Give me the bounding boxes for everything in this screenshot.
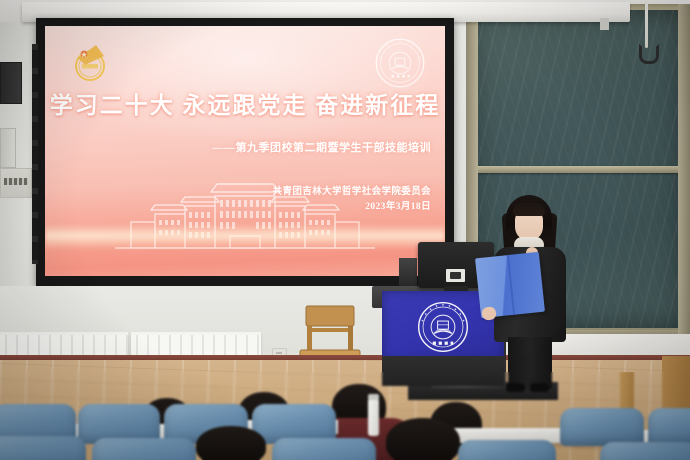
lecture-seat[interactable] (600, 442, 690, 460)
presenter-shoe (530, 383, 549, 392)
lecture-seat[interactable] (648, 408, 690, 446)
slide-title: 学习二十大 永远跟党走 奋进新征程 (45, 86, 445, 120)
presenter-legs (508, 337, 552, 389)
presenter (484, 195, 576, 395)
lecture-seat[interactable] (458, 440, 556, 460)
slide-subtitle: ——第九季团校第二期暨学生干部技能培训 (213, 139, 432, 155)
lecture-seat[interactable] (92, 438, 196, 460)
slide-horizon-glow (45, 224, 445, 250)
jilin-university-seal-icon (373, 36, 427, 90)
jilin-university-seal-icon (416, 300, 470, 354)
hanging-cord (645, 0, 648, 48)
chalkboard-ledge (472, 166, 684, 173)
lecture-seat[interactable] (0, 436, 86, 460)
folder-crease (507, 255, 515, 315)
wall-speaker (0, 62, 22, 104)
lecture-seat[interactable] (272, 438, 376, 460)
projection-screen: 学习二十大 永远跟党走 奋进新征程 ——第九季团校第二期暨学生干部技能培训 共青… (36, 18, 454, 286)
audience-head (196, 426, 266, 460)
water-bottle-cap (368, 394, 379, 400)
presenter-shoe (506, 383, 525, 392)
communist-youth-league-emblem-icon (65, 36, 115, 86)
presentation-slide: 学习二十大 永远跟党走 奋进新征程 ——第九季团校第二期暨学生干部技能培训 共青… (45, 26, 445, 276)
water-bottle (368, 398, 379, 436)
audience-head (386, 418, 460, 460)
presenter-bangs (513, 203, 545, 216)
podium-side-panel (399, 258, 417, 288)
screen-mount-right (600, 18, 609, 30)
wall-cabinet (0, 128, 16, 168)
monitor-badge-icon (446, 269, 465, 282)
chalkboard-right-post (678, 4, 690, 340)
lecture-seat[interactable] (560, 408, 644, 446)
hook-icon (639, 44, 659, 64)
wall-control-panel[interactable] (0, 168, 32, 198)
lecture-hall-photo: 学习二十大 永远跟党走 奋进新征程 ——第九季团校第二期暨学生干部技能培训 共青… (0, 0, 690, 460)
